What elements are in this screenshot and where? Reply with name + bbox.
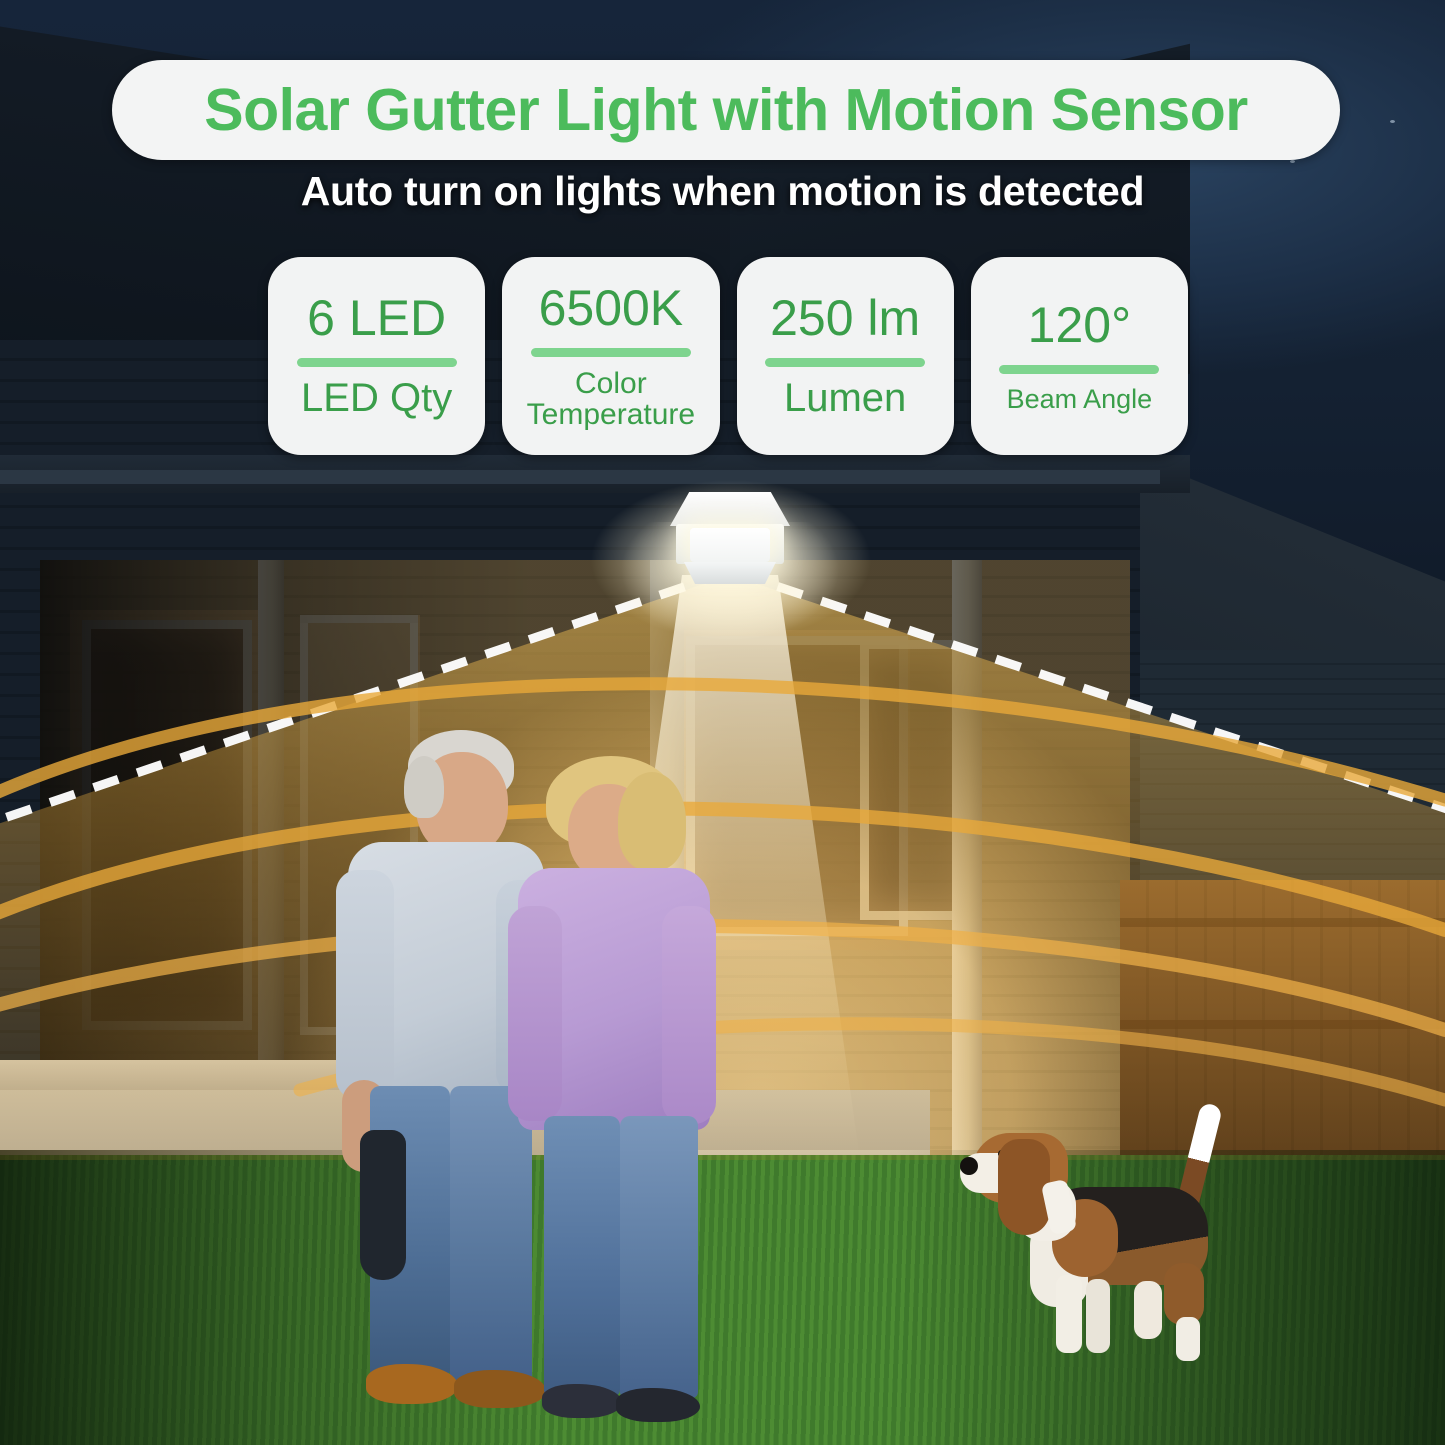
dog-hind-leg — [1164, 1263, 1204, 1325]
dog-front-leg — [1056, 1275, 1082, 1353]
man-jacket-in-hand — [360, 1130, 406, 1280]
page-subtitle: Auto turn on lights when motion is detec… — [0, 168, 1445, 215]
dog-hind-paw — [1176, 1317, 1200, 1361]
fence-rail — [1120, 1020, 1445, 1029]
older-woman — [510, 756, 720, 1426]
spec-label-color-temperature: ColorTemperature — [527, 368, 695, 430]
spec-card-led-qty[interactable]: 6 LED LED Qty — [268, 257, 485, 455]
spec-value-led-qty: 6 LED — [307, 292, 446, 345]
title-banner: Solar Gutter Light with Motion Sensor — [112, 60, 1340, 160]
product-marketing-image: Solar Gutter Light with Motion Sensor Au… — [0, 0, 1445, 1445]
woman-hair-back — [618, 772, 686, 870]
star — [1290, 160, 1295, 163]
spec-card-beam-angle[interactable]: 120° Beam Angle — [971, 257, 1188, 455]
gable-trim — [0, 470, 1160, 484]
spec-divider — [765, 358, 925, 367]
spec-divider — [297, 358, 457, 367]
spec-label-beam-angle: Beam Angle — [1007, 385, 1153, 413]
spec-card-lumen[interactable]: 250 lm Lumen — [737, 257, 954, 455]
woman-right-jeans — [620, 1116, 698, 1398]
spec-divider — [531, 348, 691, 357]
dog-nose — [960, 1157, 978, 1175]
spec-value-beam-angle: 120° — [1028, 299, 1131, 352]
spec-label-lumen: Lumen — [784, 378, 906, 420]
fixture-lens — [690, 528, 770, 562]
page-title: Solar Gutter Light with Motion Sensor — [204, 76, 1247, 144]
man-hair-side — [404, 756, 444, 818]
star — [1390, 120, 1395, 123]
spec-card-row: 6 LED LED Qty 6500K ColorTemperature 250… — [268, 257, 1188, 455]
fence-rail — [1120, 918, 1445, 927]
man-shoe-left — [366, 1364, 458, 1404]
woman-shoe-left — [542, 1384, 622, 1418]
fixture-solar-panel — [670, 492, 790, 526]
man-left-arm — [336, 870, 394, 1100]
woman-left-jeans — [544, 1116, 620, 1396]
woman-shoe-right — [616, 1388, 700, 1422]
spec-value-color-temperature: 6500K — [539, 282, 684, 335]
fixture-base — [684, 562, 776, 584]
spec-card-color-temperature[interactable]: 6500K ColorTemperature — [502, 257, 719, 455]
spec-label-led-qty: LED Qty — [301, 378, 452, 420]
woman-right-arm — [662, 906, 716, 1124]
dog-front-leg-2 — [1086, 1279, 1110, 1353]
beagle-dog — [960, 1095, 1290, 1370]
woman-left-arm — [508, 906, 562, 1121]
solar-gutter-light-fixture — [660, 492, 800, 587]
spec-divider — [999, 365, 1159, 374]
spec-value-lumen: 250 lm — [770, 292, 920, 345]
dog-hind-leg-2 — [1134, 1281, 1162, 1339]
